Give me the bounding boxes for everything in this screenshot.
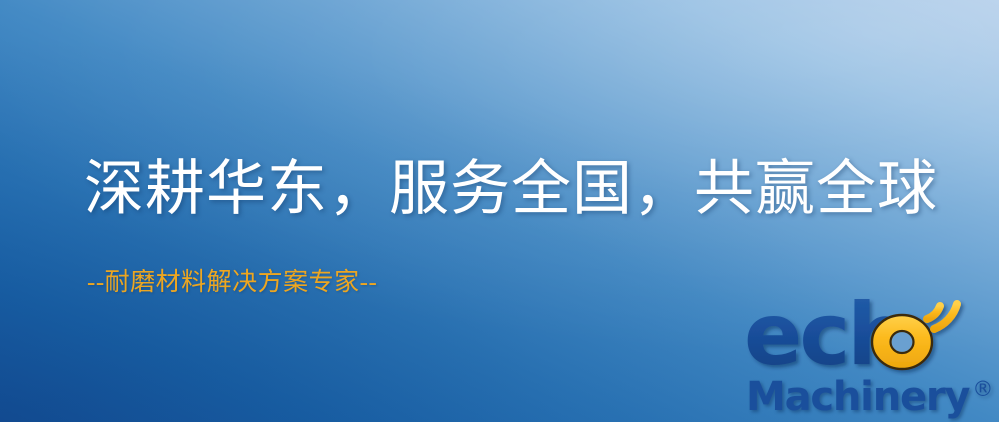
signal-waves-icon (927, 304, 957, 329)
logo-machinery-label: Machinery (746, 374, 969, 420)
page-subtitle: --耐磨材料解决方案专家-- (87, 268, 377, 298)
page-title: 深耕华东，服务全国，共赢全球 (84, 155, 938, 223)
logo-machinery-text: Machinery® (746, 366, 993, 420)
hero-banner: 深耕华东，服务全国，共赢全球 --耐磨材料解决方案专家-- (0, 0, 999, 422)
logo-echo-wordmark: ech (744, 292, 994, 376)
registered-trademark-mark: ® (972, 377, 993, 401)
company-logo[interactable]: ech Machinery® (744, 296, 994, 422)
logo-letter-o-accent (872, 315, 932, 369)
